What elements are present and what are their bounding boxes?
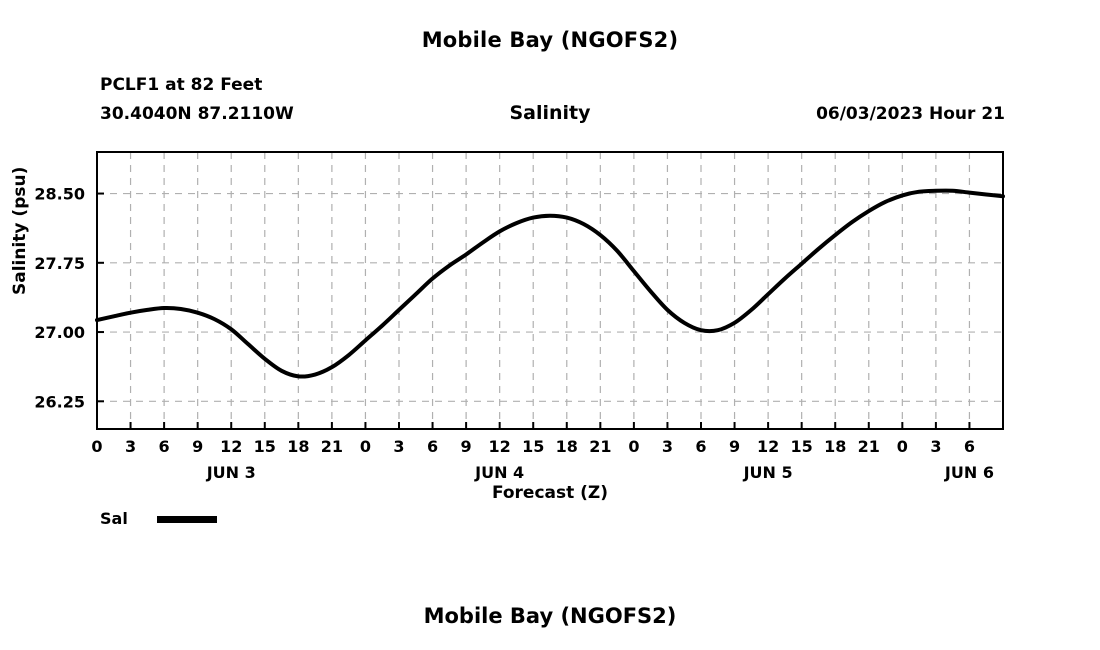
- x-tick-label: 6: [427, 437, 438, 456]
- x-tick-label: 9: [192, 437, 203, 456]
- x-tick-label: 21: [589, 437, 611, 456]
- y-tick-label: 27.75: [34, 254, 85, 273]
- x-tick-label: 18: [556, 437, 578, 456]
- y-tick-label: 28.50: [34, 185, 85, 204]
- x-tick-label: 12: [220, 437, 242, 456]
- x-tick-label: 3: [125, 437, 136, 456]
- x-tick-label: 9: [461, 437, 472, 456]
- page-title-bottom: Mobile Bay (NGOFS2): [0, 604, 1100, 628]
- x-tick-label: 21: [321, 437, 343, 456]
- plot-area: 26.2527.0027.7528.5003691215182103691215…: [0, 0, 1100, 504]
- y-tick-label: 27.00: [34, 323, 85, 342]
- legend-swatch-sal: [157, 516, 217, 523]
- x-axis-day-label: JUN 6: [944, 463, 994, 482]
- x-tick-label: 12: [489, 437, 511, 456]
- x-tick-label: 3: [930, 437, 941, 456]
- x-tick-label: 15: [522, 437, 544, 456]
- x-tick-label: 9: [729, 437, 740, 456]
- x-tick-label: 12: [757, 437, 779, 456]
- x-tick-label: 18: [824, 437, 846, 456]
- salinity-line-chart: 26.2527.0027.7528.5003691215182103691215…: [0, 0, 1100, 500]
- x-tick-label: 3: [393, 437, 404, 456]
- x-axis-day-label: JUN 3: [206, 463, 256, 482]
- x-tick-label: 18: [287, 437, 309, 456]
- x-tick-label: 0: [360, 437, 371, 456]
- x-tick-label: 0: [91, 437, 102, 456]
- x-tick-label: 6: [159, 437, 170, 456]
- x-tick-label: 6: [964, 437, 975, 456]
- chart-page: Mobile Bay (NGOFS2) PCLF1 at 82 Feet 30.…: [0, 0, 1100, 650]
- x-tick-label: 3: [662, 437, 673, 456]
- y-tick-label: 26.25: [34, 392, 85, 411]
- legend-label: Sal: [100, 509, 128, 528]
- x-tick-label: 0: [897, 437, 908, 456]
- x-tick-label: 21: [858, 437, 880, 456]
- x-tick-label: 15: [254, 437, 276, 456]
- x-tick-label: 15: [791, 437, 813, 456]
- x-axis-day-label: JUN 4: [474, 463, 524, 482]
- x-tick-label: 0: [628, 437, 639, 456]
- x-axis-day-label: JUN 5: [743, 463, 793, 482]
- data-series-sal: [97, 191, 1003, 377]
- x-tick-label: 6: [695, 437, 706, 456]
